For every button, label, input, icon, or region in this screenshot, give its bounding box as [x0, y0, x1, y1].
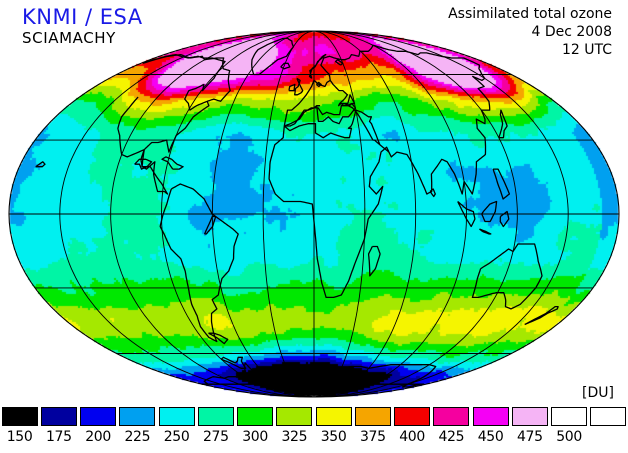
colorbar-entry: 350: [315, 407, 353, 445]
graticule-lines: [9, 31, 619, 397]
colorbar-swatch: [198, 407, 234, 426]
ozone-map-page: KNMI / ESA SCIAMACHY Assimilated total o…: [0, 0, 628, 453]
colorbar-tick-label: 300: [236, 429, 274, 445]
colorbar-tick-label: 250: [158, 429, 196, 445]
colorbar-entry: 400: [393, 407, 431, 445]
colorbar-tick-label: 425: [432, 429, 470, 445]
graticule: [9, 31, 619, 397]
colorbar-entry: 150: [1, 407, 39, 445]
colorbar-swatch: [80, 407, 116, 426]
colorbar-entry: 375: [354, 407, 392, 445]
colorbar-tick-label: 150: [1, 429, 39, 445]
colorbar-swatch: [473, 407, 509, 426]
colorbar-tick-label: 175: [40, 429, 78, 445]
colorbar-entry: 500: [550, 407, 588, 445]
map-overlay-svg: [6, 28, 622, 400]
colorbar-swatch: [590, 407, 626, 426]
colorbar-swatch: [551, 407, 587, 426]
organization-title: KNMI / ESA: [22, 6, 143, 28]
colorbar-swatch: [512, 407, 548, 426]
colorbar-unit-label: [DU]: [582, 385, 614, 401]
colorbar-tick-label: 450: [472, 429, 510, 445]
colorbar-swatch: [355, 407, 391, 426]
colorbar-swatch: [159, 407, 195, 426]
colorbar-entry: 200: [79, 407, 117, 445]
ozone-map: [6, 28, 622, 400]
colorbar-entry: 175: [40, 407, 78, 445]
colorbar-swatch: [41, 407, 77, 426]
colorbar-tick-label: 325: [275, 429, 313, 445]
colorbar-entry: 275: [197, 407, 235, 445]
colorbar-swatch: [316, 407, 352, 426]
coastlines: [36, 38, 558, 387]
colorbar-entry: 225: [118, 407, 156, 445]
colorbar-entry: [589, 407, 627, 426]
colorbar-swatch: [394, 407, 430, 426]
colorbar-tick-label: 275: [197, 429, 235, 445]
colorbar: 1501752002252502753003253503754004254504…: [0, 407, 628, 453]
colorbar-tick-label: 225: [118, 429, 156, 445]
colorbar-entry: 250: [158, 407, 196, 445]
product-title: Assimilated total ozone: [448, 6, 612, 24]
colorbar-tick-label: 400: [393, 429, 431, 445]
colorbar-entry: 450: [472, 407, 510, 445]
colorbar-tick-label: 200: [79, 429, 117, 445]
colorbar-entry: 300: [236, 407, 274, 445]
colorbar-swatch: [237, 407, 273, 426]
coastline-paths: [36, 38, 558, 387]
colorbar-tick-label: 500: [550, 429, 588, 445]
colorbar-swatch: [119, 407, 155, 426]
colorbar-tick-label: 350: [315, 429, 353, 445]
colorbar-entry: 325: [275, 407, 313, 445]
colorbar-entry: 425: [432, 407, 470, 445]
colorbar-tick-label: 475: [511, 429, 549, 445]
colorbar-tick-label: 375: [354, 429, 392, 445]
colorbar-swatch: [276, 407, 312, 426]
colorbar-swatch: [2, 407, 38, 426]
colorbar-entry: 475: [511, 407, 549, 445]
colorbar-swatch: [433, 407, 469, 426]
